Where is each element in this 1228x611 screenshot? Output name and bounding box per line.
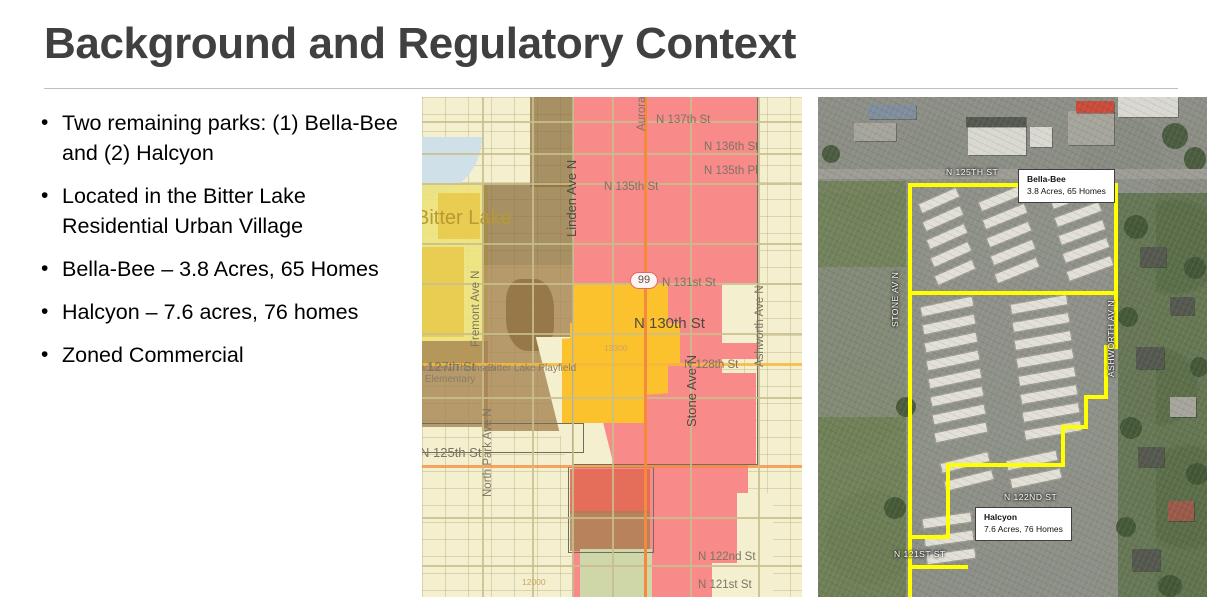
aerial-label-125th: N 125TH ST [946,167,998,177]
map-label-n135th: N 135th St [604,181,658,193]
map-label-north-park: North Park Ave N [482,408,494,497]
map-tick-12000: 12000 [522,577,546,587]
bullet-text: Halcyon – 7.6 acres, 76 homes [62,297,398,327]
callout-detail: 3.8 Acres, 65 Homes [1027,186,1106,198]
aerial-label-stone-av: STONE AV N [890,272,900,327]
street-aurora-ave-n [644,97,647,597]
list-item: • Bella-Bee – 3.8 Acres, 65 Homes [32,254,398,284]
map-label-n121st: N 121st St [698,579,752,591]
map-label-n136th: N 136th St [704,141,758,153]
map-label-bitter-lake-playfield: Bitter Lake Playfield [486,363,578,374]
map-label-linden: Linden Ave N [564,160,579,237]
map-tick-13300: 13300 [604,343,628,353]
map-label-n137th: N 137th St [656,114,710,126]
zoning-map-image: 99 Aurora Ave N Linden Ave N Ashworth Av… [422,97,802,597]
street-stone-ave-n [690,97,692,597]
aerial-label-121st: N 121ST ST [894,549,946,559]
map-label-broadview-thomson: Broadview-Thomson Elementary [422,363,496,385]
callout-bella-bee: Bella-Bee 3.8 Acres, 65 Homes [1018,169,1115,203]
list-item: • Two remaining parks: (1) Bella-Bee and… [32,108,398,168]
map-label-n128th: N 128th St [684,359,738,371]
street-fremont [532,97,534,597]
bullet-marker: • [32,297,62,326]
callout-halcyon: Halcyon 7.6 Acres, 76 Homes [975,507,1072,541]
bullet-text: Zoned Commercial [62,340,398,370]
map-label-aurora-north: Aurora Ave N [636,97,648,131]
urban-village-boundary-south [568,467,654,553]
bullet-marker: • [32,340,62,369]
bullet-list: • Two remaining parks: (1) Bella-Bee and… [32,108,398,383]
map-label-n130th: N 130th St [634,315,705,332]
map-label-125th: N 125th St [422,445,481,460]
bullet-text: Located in the Bitter Lake Residential U… [62,181,398,241]
aerial-map-image: N 125TH ST N 122ND ST N 121ST ST STONE A… [818,97,1207,597]
callout-title: Halcyon [984,512,1063,524]
map-label-n135th-pl: N 135th Pl [704,165,758,177]
list-item: • Located in the Bitter Lake Residential… [32,181,398,241]
aerial-label-ashworth-av: ASHWORTH AV N [1106,300,1116,377]
map-label-ashworth: Ashworth Ave N [754,285,766,367]
aerial-label-122nd: N 122ND ST [1004,492,1057,502]
title-divider [44,88,1178,89]
bullet-marker: • [32,181,62,210]
callout-detail: 7.6 Acres, 76 Homes [984,524,1063,536]
highway-99-shield: 99 [630,272,658,289]
bullet-text: Bella-Bee – 3.8 Acres, 65 Homes [62,254,398,284]
bullet-text: Two remaining parks: (1) Bella-Bee and (… [62,108,398,168]
zone-lowrise-gold [422,247,464,337]
map-label-n131st: N 131st St [662,277,716,289]
map-label-bitter-lake: Bitter Lake [422,207,512,230]
bullet-marker: • [32,254,62,283]
street-line-v [482,97,484,597]
map-label-n122nd: N 122nd St [698,551,756,563]
zone-open-space-olive [580,549,652,597]
callout-title: Bella-Bee [1027,174,1106,186]
list-item: • Zoned Commercial [32,340,398,370]
page-title: Background and Regulatory Context [44,20,1184,68]
map-label-fremont: Fremont Ave N [470,271,482,348]
list-item: • Halcyon – 7.6 acres, 76 homes [32,297,398,327]
bullet-marker: • [32,108,62,137]
